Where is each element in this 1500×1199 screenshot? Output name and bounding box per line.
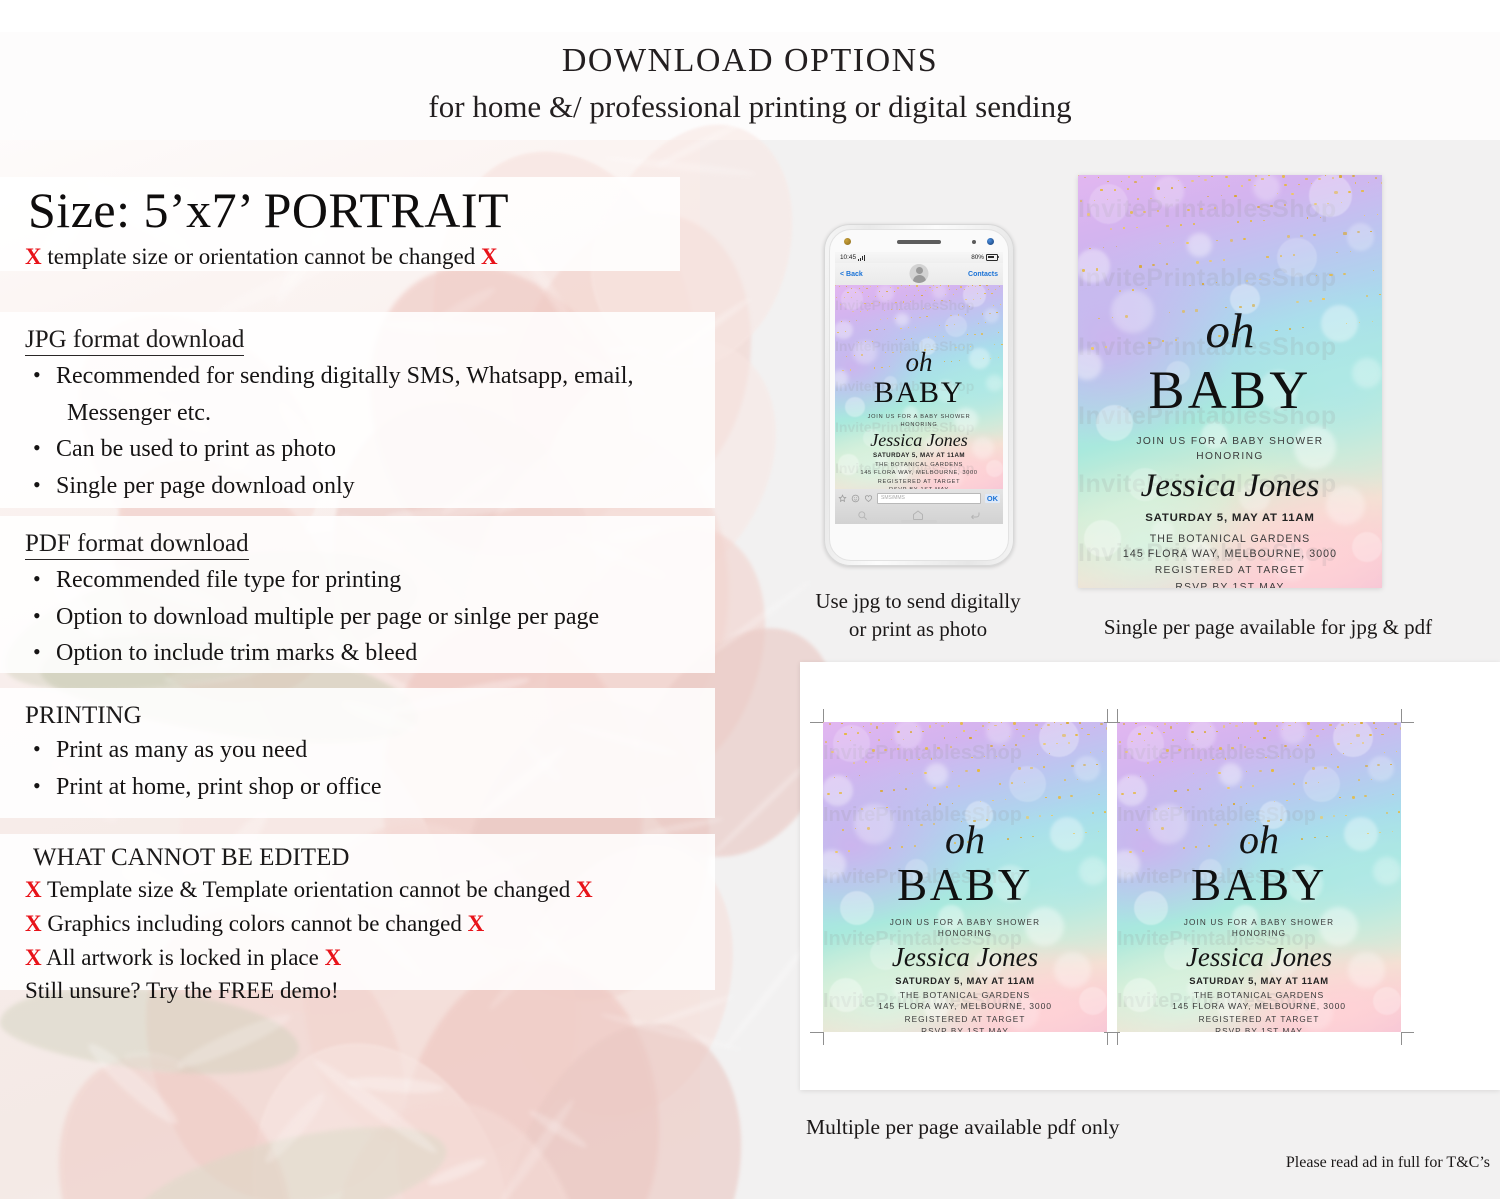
gold-confetti-fleck <box>1200 759 1202 761</box>
bokeh-circle <box>1333 722 1373 757</box>
gold-confetti-fleck <box>1003 745 1005 747</box>
bokeh-circle <box>877 285 894 302</box>
gold-confetti-fleck <box>1206 773 1207 774</box>
gold-confetti-fleck <box>1375 728 1377 729</box>
x-mark-icon: X <box>25 877 42 902</box>
back-button[interactable]: < Back <box>840 271 863 278</box>
message-input-row: SMS/MMS OK <box>838 493 1000 504</box>
invite-intro-line1: JOIN US FOR A BABY SHOWER <box>1078 435 1382 449</box>
gold-confetti-fleck <box>1233 803 1234 804</box>
gold-confetti-fleck <box>933 787 936 789</box>
trim-mark <box>810 722 823 723</box>
gold-confetti-fleck <box>1191 748 1193 750</box>
gold-confetti-fleck <box>1386 812 1388 814</box>
invite-venue-line2: 145 FLORA WAY, MELBOURNE, 3000 <box>1078 547 1382 561</box>
gold-confetti-fleck <box>1153 775 1154 776</box>
gold-confetti-fleck <box>994 344 995 345</box>
trim-mark <box>1401 722 1414 723</box>
gold-confetti-fleck <box>978 323 979 324</box>
gold-confetti-fleck <box>973 299 974 300</box>
gold-confetti-fleck <box>1211 176 1212 177</box>
list-item: Messenger etc. <box>25 398 715 430</box>
status-left: 10:45 <box>840 254 865 261</box>
gold-confetti-fleck <box>1013 722 1016 724</box>
phone-status-bar: 10:45 80% <box>835 252 1003 263</box>
gold-confetti-fleck <box>977 769 980 771</box>
gold-confetti-fleck <box>1257 730 1259 732</box>
gold-confetti-fleck <box>935 336 936 337</box>
bokeh-circle <box>1188 722 1216 749</box>
gold-confetti-fleck <box>882 723 884 724</box>
gold-confetti-fleck <box>1070 795 1073 797</box>
gold-confetti-fleck <box>851 297 852 298</box>
invite-name: Jessica Jones <box>1117 944 1401 971</box>
gold-confetti-fleck <box>880 319 881 320</box>
gold-confetti-fleck <box>962 306 963 307</box>
gold-confetti-fleck <box>1100 723 1102 725</box>
phone-top-sensors <box>836 234 1002 250</box>
invite-rsvp: RSVP BY 1ST MAY <box>835 487 1003 489</box>
invite-date: SATURDAY 5, MAY AT 11AM <box>823 975 1107 986</box>
gold-confetti-fleck <box>896 339 897 340</box>
gold-confetti-fleck <box>1244 746 1246 748</box>
gold-confetti-fleck <box>831 751 834 753</box>
invite-intro-line1: JOIN US FOR A BABY SHOWER <box>1117 917 1401 928</box>
gold-confetti-fleck <box>1043 743 1045 745</box>
signal-icon <box>858 255 865 261</box>
page-header: DOWNLOAD OPTIONS for home &/ professiona… <box>0 40 1500 127</box>
gold-confetti-fleck <box>990 745 993 747</box>
gold-confetti-fleck <box>1334 191 1337 194</box>
gold-confetti-fleck <box>958 314 960 315</box>
gold-confetti-fleck <box>998 332 999 333</box>
bokeh-circle <box>1303 766 1340 803</box>
gold-confetti-fleck <box>1075 734 1078 736</box>
bokeh-circle <box>963 285 987 307</box>
gold-confetti-fleck <box>1250 220 1252 221</box>
gold-confetti-fleck <box>884 310 885 311</box>
gold-confetti-fleck <box>918 759 920 761</box>
gold-confetti-fleck <box>1379 294 1381 296</box>
gold-confetti-fleck <box>1293 254 1295 255</box>
gold-confetti-fleck <box>906 759 908 761</box>
invite-venue-line2: 145 FLORA WAY, MELBOURNE, 3000 <box>835 470 1003 478</box>
cannot-edit-line: X Template size & Template orientation c… <box>25 875 715 906</box>
gold-confetti-fleck <box>1278 756 1280 757</box>
gold-confetti-fleck <box>1320 816 1323 818</box>
send-ok-button[interactable]: OK <box>985 494 1000 503</box>
trim-mark <box>1104 722 1117 723</box>
gold-confetti-fleck <box>846 776 847 777</box>
gold-confetti-fleck <box>846 286 847 287</box>
gold-confetti-fleck <box>941 725 943 727</box>
gold-confetti-fleck <box>919 317 921 318</box>
bokeh-circle <box>841 288 863 310</box>
bokeh-circle <box>986 722 1012 744</box>
gold-confetti-fleck <box>864 303 866 304</box>
gold-confetti-fleck <box>1189 723 1190 724</box>
gold-confetti-fleck <box>1309 300 1312 302</box>
gold-confetti-fleck <box>901 285 902 286</box>
invite-venue-line1: THE BOTANICAL GARDENS <box>823 990 1107 1002</box>
bokeh-circle <box>1009 766 1046 803</box>
gold-confetti-fleck <box>974 334 976 335</box>
gold-confetti-fleck <box>1313 234 1315 236</box>
gold-confetti-fleck <box>829 723 831 724</box>
gold-confetti-fleck <box>887 318 888 319</box>
message-input[interactable]: SMS/MMS <box>877 493 981 504</box>
gold-confetti-fleck <box>865 761 867 763</box>
gold-confetti-fleck <box>1180 807 1182 808</box>
gold-confetti-fleck <box>1202 283 1204 284</box>
gold-confetti-fleck <box>1280 255 1282 257</box>
gold-confetti-fleck <box>1131 741 1133 742</box>
gold-confetti-fleck <box>1163 732 1165 734</box>
gold-confetti-fleck <box>1331 754 1332 755</box>
gold-confetti-fleck <box>1135 723 1136 724</box>
emoji-icon[interactable] <box>851 494 860 503</box>
back-arrow-icon[interactable] <box>969 509 981 521</box>
proximity-sensor-icon <box>972 240 976 244</box>
gold-confetti-fleck <box>952 771 953 772</box>
gold-confetti-fleck <box>1332 177 1334 179</box>
trim-mark <box>823 709 824 722</box>
gold-confetti-fleck <box>866 288 868 289</box>
gold-confetti-fleck <box>930 307 931 308</box>
gold-confetti-fleck <box>825 741 827 743</box>
gold-confetti-fleck <box>1147 762 1149 764</box>
gold-confetti-fleck <box>1329 724 1332 726</box>
gold-confetti-fleck <box>1159 761 1161 763</box>
gold-confetti-fleck <box>1263 737 1266 739</box>
gold-confetti-fleck <box>867 310 868 311</box>
gold-confetti-fleck <box>955 347 957 348</box>
invite-registry: REGISTERED AT TARGET <box>1078 565 1382 576</box>
gold-confetti-fleck <box>1090 752 1091 753</box>
gold-confetti-fleck <box>1225 758 1227 759</box>
gold-confetti-fleck <box>1219 747 1222 749</box>
trim-mark <box>1401 709 1402 722</box>
cannot-edit-line-text: All artwork is locked in place <box>42 945 325 970</box>
gold-confetti-fleck <box>1273 278 1274 279</box>
caption-phone-line2: or print as photo <box>800 616 1036 644</box>
invite-name: Jessica Jones <box>1078 470 1382 503</box>
gold-confetti-fleck <box>949 289 950 290</box>
bokeh-circle <box>1154 176 1184 206</box>
gold-confetti-fleck <box>1398 811 1400 813</box>
printing-panel: PRINTING Print as many as you need Print… <box>0 688 715 818</box>
gold-confetti-fleck <box>1062 734 1065 736</box>
gold-confetti-fleck <box>1026 816 1029 818</box>
bokeh-circle <box>894 722 922 749</box>
invite-script-word: oh <box>835 352 1003 374</box>
gold-confetti-fleck <box>853 762 855 764</box>
gold-confetti-fleck <box>916 726 917 727</box>
gold-confetti-fleck <box>1381 734 1383 736</box>
gold-confetti-fleck <box>1348 191 1351 193</box>
gold-confetti-fleck <box>937 747 940 749</box>
gold-confetti-fleck <box>1137 198 1139 200</box>
gold-confetti-fleck <box>1228 185 1230 187</box>
gold-confetti-fleck <box>905 788 907 790</box>
invite-date: SATURDAY 5, MAY AT 11AM <box>835 452 1003 459</box>
gold-confetti-fleck <box>969 737 972 739</box>
bokeh-circle <box>1277 238 1317 278</box>
gold-confetti-fleck <box>1241 185 1243 186</box>
gold-confetti-fleck <box>965 770 968 772</box>
gold-confetti-fleck <box>914 295 915 296</box>
cannot-edit-line-text: Template size & Template orientation can… <box>42 877 576 902</box>
gold-confetti-fleck <box>1185 739 1187 740</box>
gold-confetti-fleck <box>1092 812 1094 814</box>
gold-confetti-fleck <box>956 737 957 738</box>
caption-phone-line1: Use jpg to send digitally <box>800 588 1036 616</box>
gold-confetti-fleck <box>1337 766 1339 768</box>
trim-mark <box>823 1032 824 1045</box>
gold-confetti-fleck <box>891 309 892 310</box>
invite-name: Jessica Jones <box>835 431 1003 449</box>
gold-confetti-fleck <box>984 756 986 757</box>
gold-confetti-fleck <box>940 285 941 286</box>
gold-confetti-fleck <box>965 314 966 315</box>
gold-confetti-fleck <box>1173 242 1174 243</box>
gold-confetti-fleck <box>837 332 839 333</box>
gold-confetti-fleck <box>1030 767 1033 769</box>
trim-mark <box>1117 1032 1118 1045</box>
gold-confetti-fleck <box>923 308 924 309</box>
gold-confetti-fleck <box>840 304 842 305</box>
avatar-body <box>913 275 926 283</box>
gold-confetti-fleck <box>1223 259 1225 261</box>
gold-confetti-fleck <box>1284 184 1286 186</box>
gold-confetti-fleck <box>970 346 971 347</box>
invite-rsvp: RSVP BY 1ST MAY <box>1078 582 1382 588</box>
gold-confetti-fleck <box>895 723 896 724</box>
gold-confetti-fleck <box>916 285 918 286</box>
gold-confetti-fleck <box>1121 181 1122 182</box>
gold-confetti-fleck <box>1018 767 1021 769</box>
gold-confetti-fleck <box>986 285 988 286</box>
gold-confetti-fleck <box>1263 220 1264 221</box>
gold-confetti-fleck <box>1322 298 1324 300</box>
contacts-button[interactable]: Contacts <box>968 271 998 278</box>
bokeh-circle <box>1074 756 1100 782</box>
gold-confetti-fleck <box>1136 227 1138 228</box>
gold-confetti-fleck <box>928 337 929 338</box>
page-title: DOWNLOAD OPTIONS <box>0 40 1500 83</box>
gold-confetti-fleck <box>1139 265 1142 268</box>
gold-confetti-fleck <box>1270 205 1272 207</box>
gold-confetti-fleck <box>899 773 900 774</box>
front-camera-icon <box>844 238 851 245</box>
gold-confetti-fleck <box>952 803 953 804</box>
gold-confetti-fleck <box>871 303 873 304</box>
bokeh-circle <box>1368 756 1394 782</box>
gold-confetti-fleck <box>954 324 955 325</box>
gold-confetti-fleck <box>1138 733 1141 735</box>
gold-confetti-fleck <box>1255 175 1257 176</box>
invite-intro-line2: HONORING <box>1117 928 1401 939</box>
gold-confetti-fleck <box>963 347 964 348</box>
gold-confetti-fleck <box>1377 214 1378 215</box>
gold-confetti-fleck <box>897 748 899 750</box>
gold-confetti-fleck <box>933 285 934 286</box>
gold-confetti-fleck <box>1210 726 1211 727</box>
gold-confetti-fleck <box>1001 344 1002 345</box>
phone-nav-bar: < Back Contacts <box>835 263 1003 285</box>
caption-single-page: Single per page available for jpg & pdf <box>1036 614 1500 642</box>
gold-confetti-fleck <box>912 773 913 774</box>
gold-confetti-fleck <box>939 325 940 326</box>
gold-confetti-fleck <box>991 293 992 294</box>
gold-confetti-fleck <box>1254 185 1255 186</box>
gold-confetti-fleck <box>929 287 931 288</box>
gold-confetti-fleck <box>1333 815 1335 817</box>
avatar-head <box>916 267 923 274</box>
heart-icon[interactable] <box>864 494 873 503</box>
gold-confetti-fleck <box>869 330 871 331</box>
gold-confetti-fleck <box>1216 731 1218 732</box>
gold-confetti-fleck <box>852 311 853 312</box>
gold-confetti-fleck <box>880 790 883 792</box>
gold-confetti-fleck <box>841 723 842 724</box>
gold-confetti-fleck <box>886 291 887 292</box>
gold-confetti-fleck <box>1164 723 1166 725</box>
gold-confetti-fleck <box>949 300 950 301</box>
invite-intro-line1: JOIN US FOR A BABY SHOWER <box>835 414 1003 422</box>
gold-confetti-fleck <box>956 289 957 290</box>
gold-confetti-fleck <box>1352 796 1355 798</box>
gold-confetti-fleck <box>935 723 937 724</box>
x-mark-icon: X <box>576 877 593 902</box>
gold-confetti-fleck <box>1290 756 1291 757</box>
cannot-edit-panel: WHAT CANNOT BE EDITED X Template size & … <box>0 834 715 990</box>
gold-confetti-fleck <box>857 732 859 734</box>
gold-confetti-fleck <box>1299 799 1300 800</box>
gold-confetti-fleck <box>1204 179 1207 181</box>
bokeh-circle <box>1187 233 1211 257</box>
gold-confetti-fleck <box>863 726 864 727</box>
gold-confetti-fleck <box>897 287 899 288</box>
gold-confetti-fleck <box>1045 797 1046 798</box>
gold-confetti-fleck <box>1396 751 1397 752</box>
status-time: 10:45 <box>840 254 856 261</box>
gold-confetti-fleck <box>1199 788 1201 790</box>
x-mark-icon: X <box>468 911 485 936</box>
gold-confetti-fleck <box>878 761 880 762</box>
gold-confetti-fleck <box>1246 771 1247 772</box>
invite-rsvp: RSVP BY 1ST MAY <box>823 1027 1107 1032</box>
gold-confetti-fleck <box>988 289 989 290</box>
trim-mark <box>1104 1032 1117 1033</box>
home-indicator <box>901 520 937 524</box>
gold-confetti-fleck <box>1369 734 1372 736</box>
phone-screen: 10:45 80% < Back Contacts InvitePrintabl… <box>835 252 1003 524</box>
invite-venue-line1: THE BOTANICAL GARDENS <box>1078 532 1382 546</box>
gold-confetti-fleck <box>927 804 929 805</box>
gold-confetti-fleck <box>941 300 942 301</box>
gold-confetti-fleck <box>878 739 880 741</box>
gold-confetti-fleck <box>967 334 968 335</box>
gold-confetti-fleck <box>899 309 900 310</box>
gold-confetti-fleck <box>900 328 902 329</box>
gold-confetti-fleck <box>995 289 996 290</box>
bokeh-circle <box>1309 175 1352 217</box>
gold-confetti-fleck <box>1171 187 1173 189</box>
gold-confetti-fleck <box>875 296 876 297</box>
gold-confetti-fleck <box>1266 256 1269 258</box>
invite-card-right: InvitePrintablesShop InvitePrintablesSho… <box>1117 722 1401 1032</box>
gold-confetti-fleck <box>929 725 932 727</box>
gold-confetti-fleck <box>1240 786 1242 788</box>
gold-confetti-fleck <box>1352 175 1355 177</box>
gold-confetti-fleck <box>981 333 983 334</box>
gold-confetti-fleck <box>1128 176 1130 178</box>
gold-confetti-fleck <box>963 730 965 732</box>
gold-confetti-fleck <box>1322 729 1324 730</box>
invite-intro-line1: JOIN US FOR A BABY SHOWER <box>823 917 1107 928</box>
search-icon[interactable] <box>857 510 868 521</box>
gold-confetti-fleck <box>1336 252 1338 254</box>
gold-confetti-fleck <box>879 302 880 303</box>
gold-confetti-fleck <box>851 727 852 728</box>
bokeh-circle <box>1078 249 1110 282</box>
gold-confetti-fleck <box>1015 744 1017 745</box>
trim-mark <box>1107 709 1108 722</box>
trim-mark <box>1401 1032 1414 1033</box>
gold-confetti-fleck <box>1297 745 1299 747</box>
gold-confetti-fleck <box>1005 799 1006 800</box>
avatar <box>910 264 929 283</box>
gold-confetti-fleck <box>1276 725 1279 727</box>
invite-venue-line1: THE BOTANICAL GARDENS <box>1117 990 1401 1002</box>
gold-confetti-fleck <box>1237 221 1239 223</box>
invite-date: SATURDAY 5, MAY AT 11AM <box>1117 975 1401 986</box>
gold-confetti-fleck <box>1259 770 1262 772</box>
gold-confetti-fleck <box>895 302 897 303</box>
gold-confetti-fleck <box>839 286 840 287</box>
invite-intro-line2: HONORING <box>835 422 1003 430</box>
gold-confetti-fleck <box>1271 769 1274 771</box>
invite-venue-line2: 145 FLORA WAY, MELBOURNE, 3000 <box>1117 1001 1401 1013</box>
invite-registry: REGISTERED AT TARGET <box>835 479 1003 485</box>
gold-confetti-fleck <box>1329 274 1332 277</box>
gold-confetti-fleck <box>1235 725 1237 727</box>
gold-confetti-fleck <box>1221 804 1223 805</box>
gold-confetti-fleck <box>1159 243 1160 244</box>
bokeh-circle <box>1127 725 1164 762</box>
battery-icon <box>986 254 998 261</box>
gold-confetti-fleck <box>1368 182 1369 183</box>
list-item: Print as many as you need <box>25 735 715 767</box>
gold-confetti-fleck <box>926 316 928 317</box>
gold-confetti-fleck <box>1103 247 1105 248</box>
gold-confetti-fleck <box>877 286 878 287</box>
gold-confetti-fleck <box>1127 188 1129 190</box>
gold-confetti-fleck <box>844 297 845 298</box>
gold-confetti-fleck <box>939 803 940 804</box>
gold-confetti-fleck <box>1166 263 1168 265</box>
gold-confetti-fleck <box>1022 735 1025 737</box>
gold-confetti-fleck <box>943 336 944 337</box>
star-icon[interactable] <box>838 494 847 503</box>
gold-confetti-fleck <box>1187 789 1190 791</box>
gold-confetti-fleck <box>971 757 973 759</box>
pdf-panel-title: PDF format download <box>25 530 249 560</box>
gold-confetti-fleck <box>1296 301 1299 303</box>
x-mark-icon: X <box>325 945 342 970</box>
gold-confetti-fleck <box>856 320 857 321</box>
